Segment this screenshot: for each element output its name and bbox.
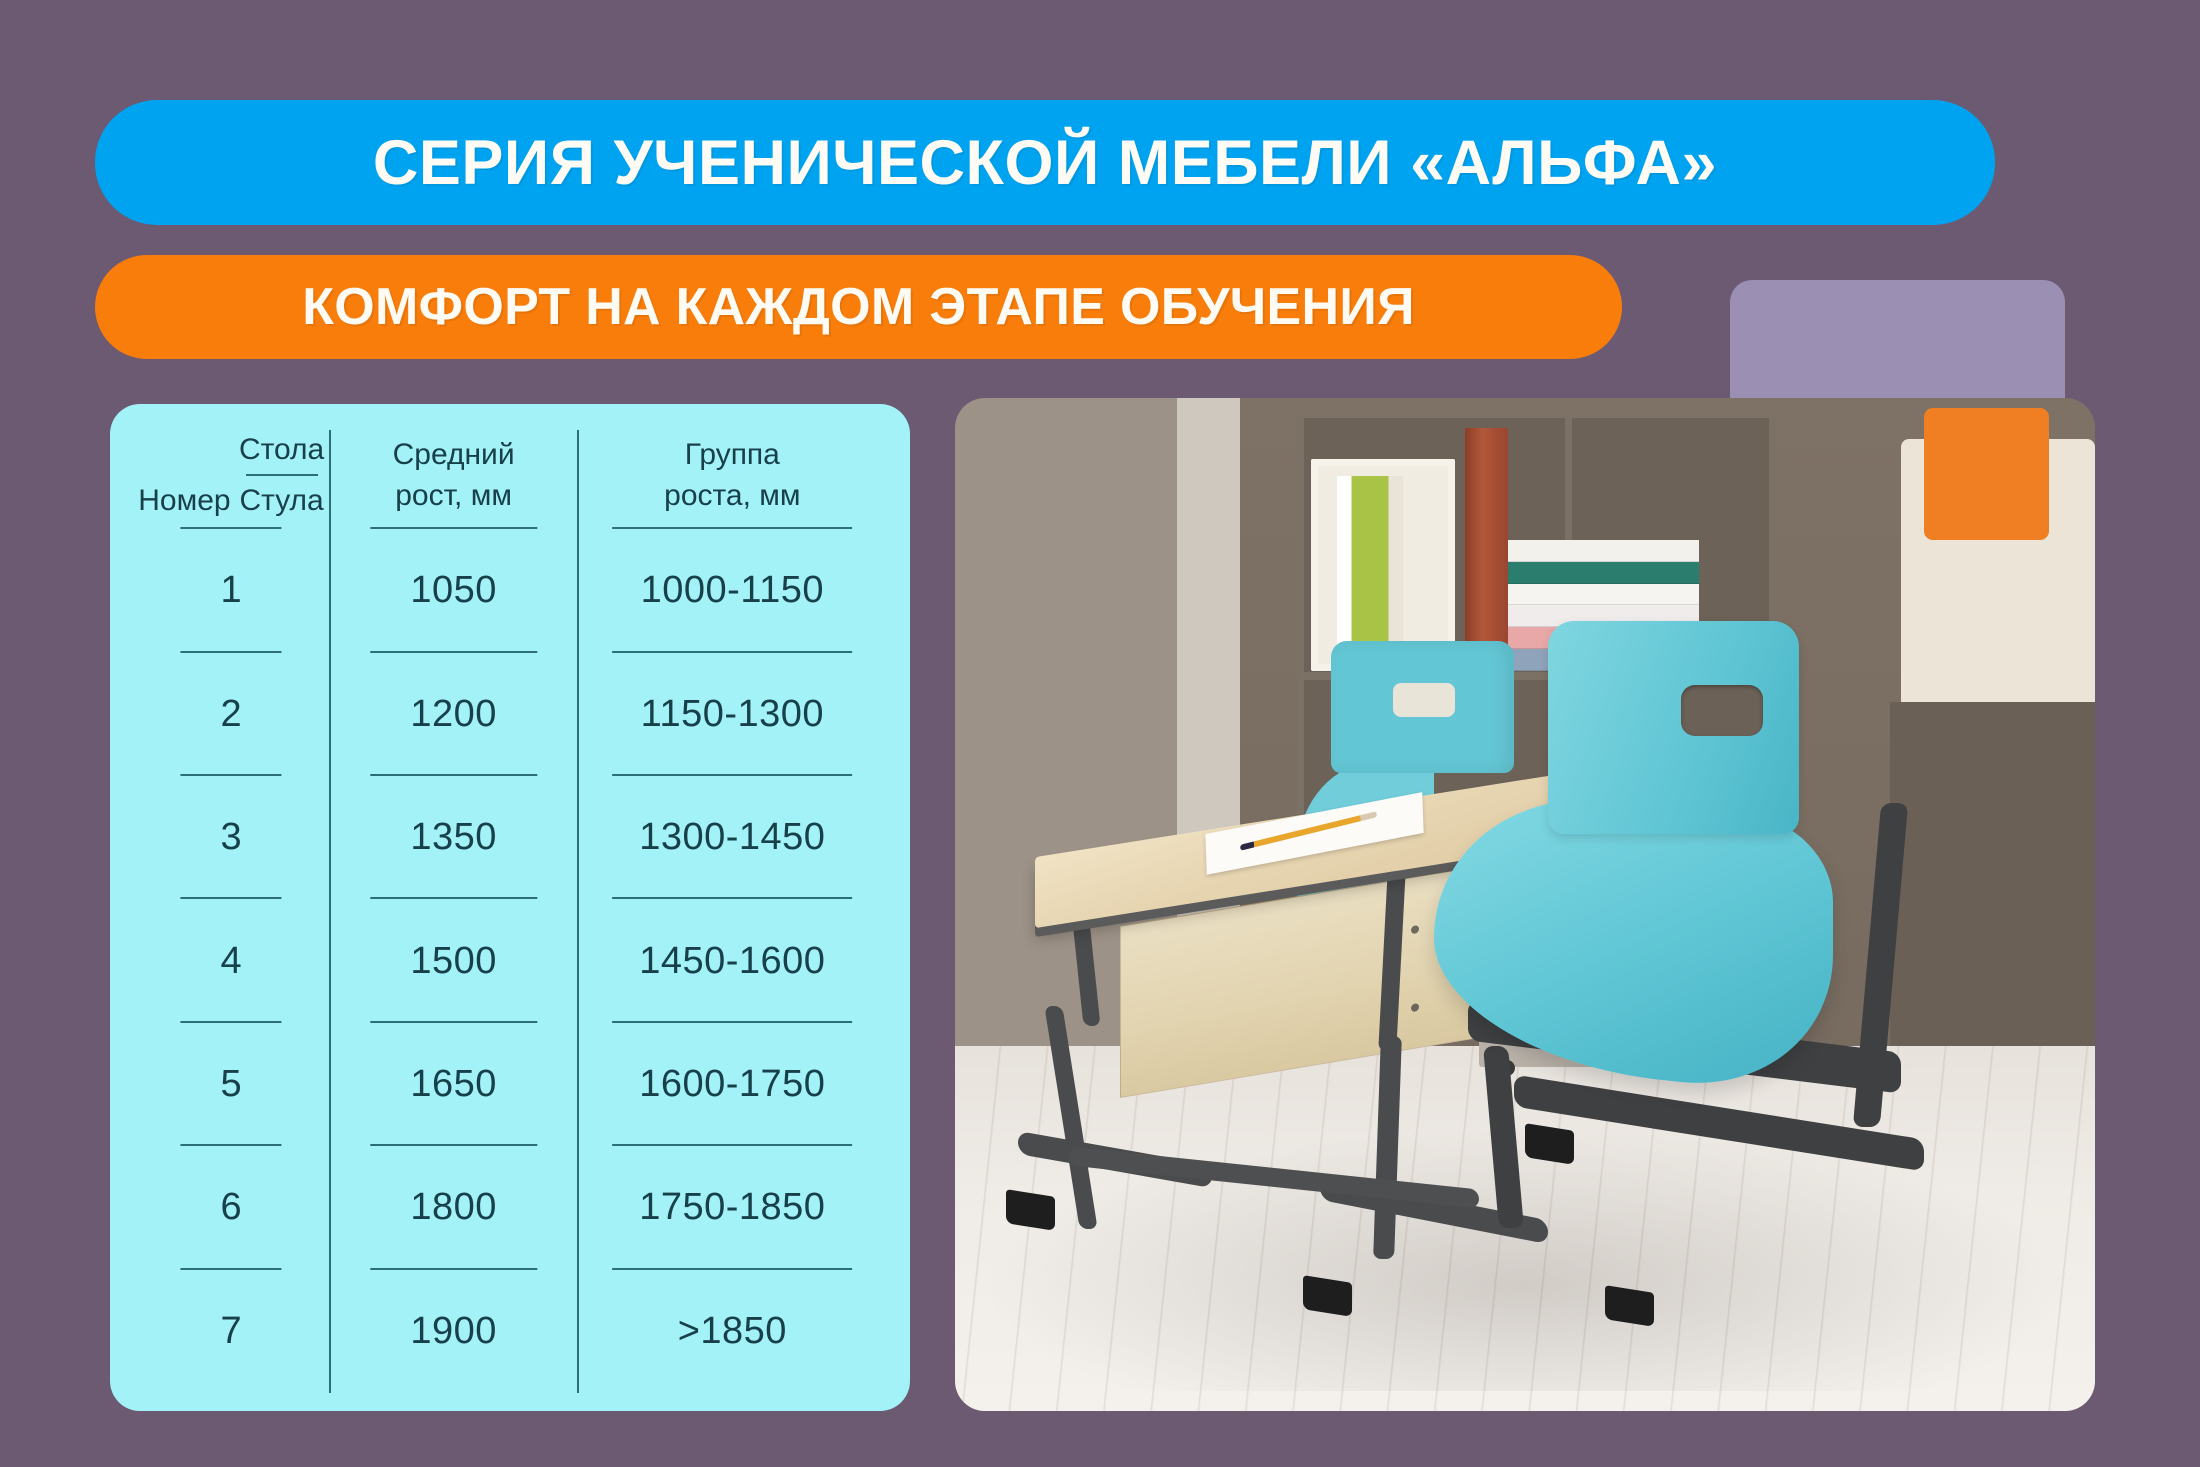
product-photo-card bbox=[955, 398, 2095, 1411]
header-group-line2: роста, мм bbox=[664, 479, 800, 512]
cell-height-group: 1150-1300 bbox=[578, 653, 886, 776]
page-subtitle: КОМФОРТ НА КАЖДОМ ЭТАПЕ ОБУЧЕНИЯ bbox=[302, 277, 1415, 337]
orange-box bbox=[1924, 408, 2049, 540]
page-title: СЕРИЯ УЧЕНИЧЕСКОЙ МЕБЕЛИ «АЛЬФА» bbox=[373, 127, 1717, 199]
cell-average-height: 1200 bbox=[330, 653, 578, 776]
turquoise-chair-back bbox=[1331, 641, 1513, 773]
cell-number: 4 bbox=[134, 899, 330, 1022]
header-desk-chair-fraction: Стола Стула bbox=[239, 430, 324, 520]
header-group-line1: Группа bbox=[685, 438, 780, 471]
header-desk-label: Стола bbox=[239, 430, 324, 469]
fraction-bar bbox=[246, 474, 318, 476]
cell-number: 5 bbox=[134, 1023, 330, 1146]
header-chair-label: Стула bbox=[239, 481, 324, 520]
turquoise-chair-front-back bbox=[1548, 621, 1799, 834]
cell-height-group: 1600-1750 bbox=[578, 1023, 886, 1146]
chair-handle-cutout bbox=[1681, 685, 1764, 736]
cell-number: 2 bbox=[134, 653, 330, 776]
cell-height-group: 1300-1450 bbox=[578, 776, 886, 899]
cell-height-group: >1850 bbox=[578, 1270, 886, 1393]
cell-number: 6 bbox=[134, 1146, 330, 1269]
header-cell-number: Номер Стола Стула bbox=[134, 430, 330, 529]
cell-average-height: 1500 bbox=[330, 899, 578, 1022]
shelf-white-box bbox=[1311, 459, 1455, 672]
size-table: Номер Стола Стула Средний рост, мм Групп… bbox=[134, 430, 886, 1393]
cell-number: 7 bbox=[134, 1270, 330, 1393]
size-table-card: Номер Стола Стула Средний рост, мм Групп… bbox=[110, 404, 910, 1411]
table-row: 2 1200 1150-1300 bbox=[134, 653, 886, 776]
chair-back-slot bbox=[1393, 683, 1455, 717]
table-row: 6 1800 1750-1850 bbox=[134, 1146, 886, 1269]
cabinet bbox=[1890, 702, 2095, 1067]
table-row: 7 1900 >1850 bbox=[134, 1270, 886, 1393]
subtitle-banner: КОМФОРТ НА КАЖДОМ ЭТАПЕ ОБУЧЕНИЯ bbox=[95, 255, 1622, 359]
cell-average-height: 1350 bbox=[330, 776, 578, 899]
cell-average-height: 1800 bbox=[330, 1146, 578, 1269]
header-average-line1: Средний bbox=[393, 438, 515, 471]
table-row: 1 1050 1000-1150 bbox=[134, 529, 886, 652]
classroom-scene bbox=[955, 398, 2095, 1411]
cell-average-height: 1900 bbox=[330, 1270, 578, 1393]
table-header-row: Номер Стола Стула Средний рост, мм Групп… bbox=[134, 430, 886, 529]
cell-number: 1 bbox=[134, 529, 330, 652]
table-row: 5 1650 1600-1750 bbox=[134, 1023, 886, 1146]
header-average-line2: рост, мм bbox=[395, 479, 512, 512]
cell-height-group: 1450-1600 bbox=[578, 899, 886, 1022]
table-row: 4 1500 1450-1600 bbox=[134, 899, 886, 1022]
cell-height-group: 1000-1150 bbox=[578, 529, 886, 652]
header-cell-height-group: Группа роста, мм bbox=[578, 430, 886, 529]
cell-average-height: 1650 bbox=[330, 1023, 578, 1146]
table-row: 3 1350 1300-1450 bbox=[134, 776, 886, 899]
cell-height-group: 1750-1850 bbox=[578, 1146, 886, 1269]
cell-number: 3 bbox=[134, 776, 330, 899]
cell-average-height: 1050 bbox=[330, 529, 578, 652]
header-number-label: Номер bbox=[138, 484, 230, 517]
header-cell-average-height: Средний рост, мм bbox=[330, 430, 578, 529]
title-banner: СЕРИЯ УЧЕНИЧЕСКОЙ МЕБЕЛИ «АЛЬФА» bbox=[95, 100, 1995, 225]
shelf-large-book bbox=[1465, 428, 1508, 671]
